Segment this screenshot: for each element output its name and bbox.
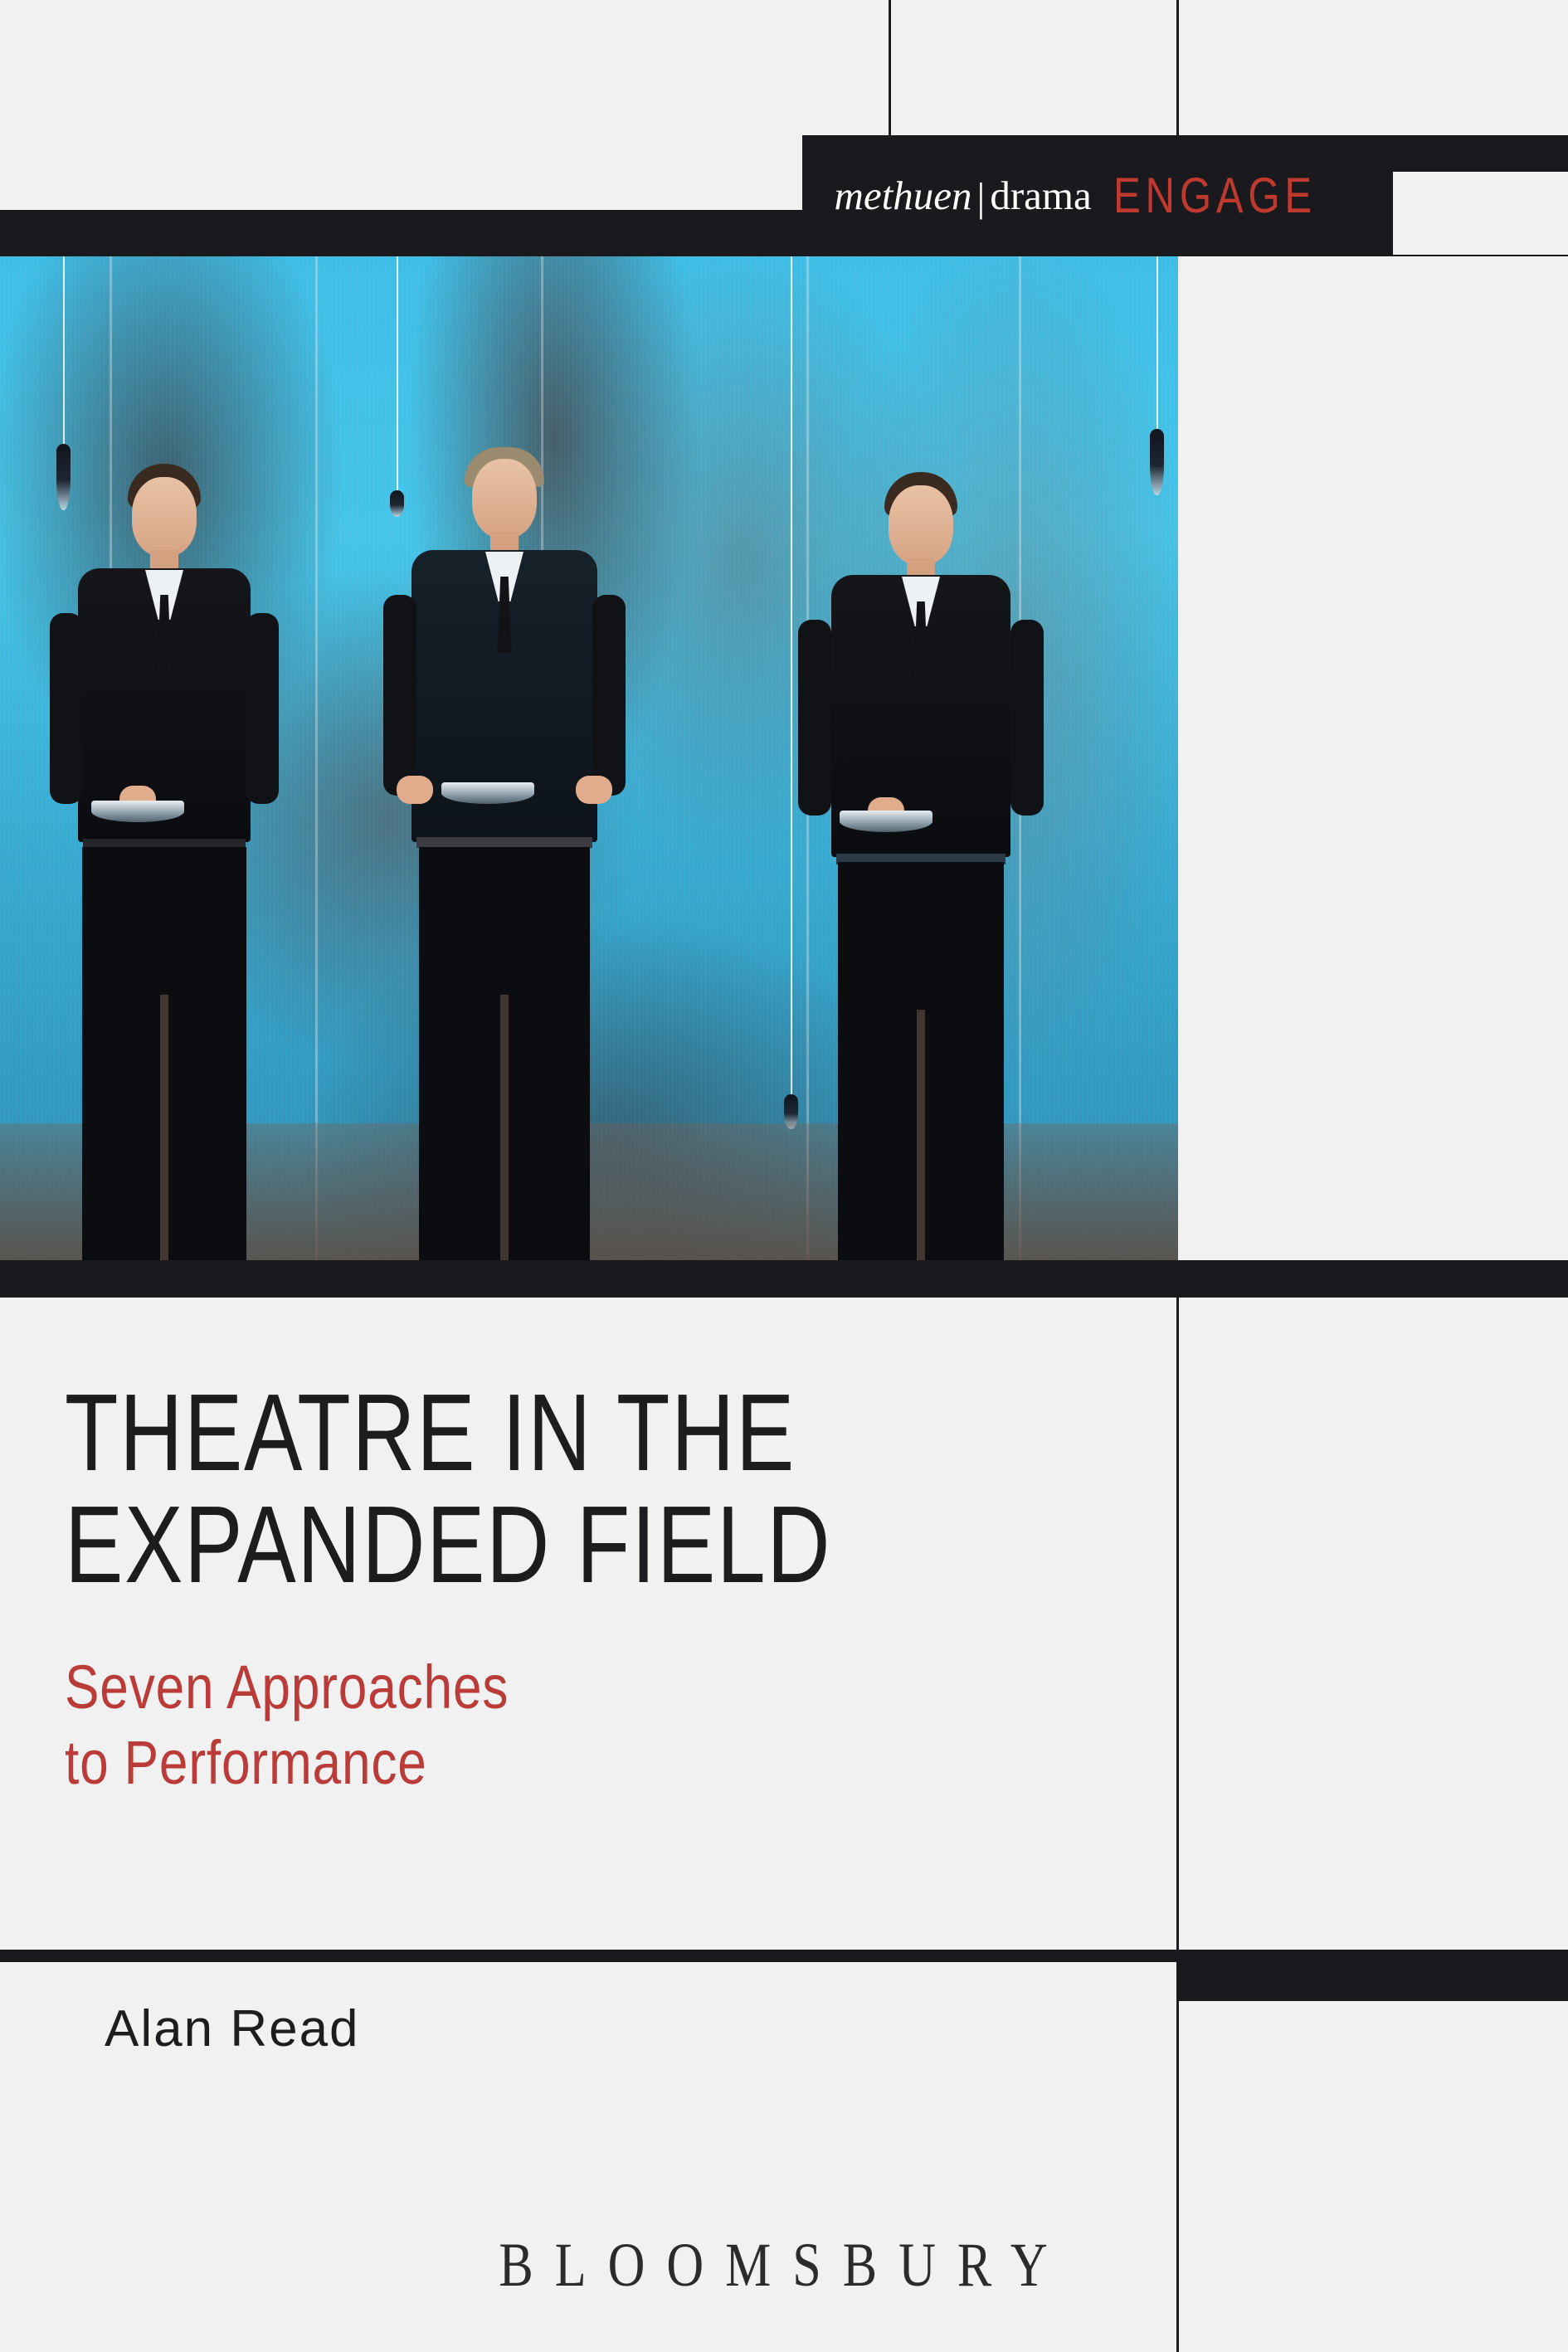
vertical-rule-top-right <box>1176 0 1179 137</box>
backdrop-fold-2 <box>315 256 318 1260</box>
cover-photograph <box>0 256 1178 1260</box>
header-notch-block <box>1393 172 1568 255</box>
performer-left-arm-right <box>246 613 279 804</box>
performer-right-arm-right <box>1010 620 1044 816</box>
band-above-author <box>0 1950 1178 1962</box>
performer-left-leg-gap <box>160 995 168 1260</box>
performer-right-tray <box>840 811 933 832</box>
imprint-divider: | <box>972 177 991 217</box>
book-cover: methuen|drama ENGAGE <box>0 0 1568 2352</box>
performer-centre-arm-right <box>592 595 626 796</box>
publisher-logo: BLOOMSBURY <box>0 2230 1568 2302</box>
hanging-wire-3 <box>1157 256 1158 429</box>
vertical-rule-top-left <box>889 0 891 137</box>
methuen-drama-wordmark: methuen|drama <box>835 175 1092 216</box>
performer-centre-tray <box>441 782 534 804</box>
title-line-2: EXPANDED FIELD <box>65 1489 894 1601</box>
author-right-block <box>1176 1950 1568 2001</box>
performer-left-head <box>132 477 197 557</box>
page-title: THEATRE IN THEEXPANDED FIELD <box>65 1377 894 1600</box>
drama-word: drama <box>990 173 1091 218</box>
subtitle-line-1: Seven Approaches <box>65 1653 509 1721</box>
band-below-photo <box>0 1260 1568 1298</box>
page-subtitle: Seven Approachesto Performance <box>65 1600 936 1800</box>
performer-left-arm-left <box>50 613 83 804</box>
hanging-weight-3 <box>1150 429 1164 495</box>
performer-left <box>40 464 289 1260</box>
author-name: Alan Read <box>105 1999 360 2058</box>
title-line-1: THEATRE IN THE <box>65 1371 796 1493</box>
title-block: THEATRE IN THEEXPANDED FIELD Seven Appro… <box>65 1377 1102 1800</box>
performer-right <box>788 472 1054 1260</box>
methuen-word: methuen <box>835 173 972 218</box>
performer-centre-hand-right <box>576 776 612 804</box>
performer-left-tray <box>91 801 184 822</box>
performer-centre-arm-left <box>383 595 416 796</box>
performer-centre-hand-left <box>397 776 433 804</box>
vertical-rule-title-area <box>1176 1298 1179 1950</box>
imprint-logo-bar: methuen|drama ENGAGE <box>802 135 1393 255</box>
performer-right-head <box>889 485 953 565</box>
performer-right-arm-left <box>798 620 831 816</box>
performer-right-leg-gap <box>917 1010 925 1260</box>
performer-centre-head <box>472 459 537 538</box>
performer-centre-leg-gap <box>500 995 509 1260</box>
hanging-wire-1 <box>63 256 65 444</box>
performer-centre <box>372 447 637 1260</box>
subtitle-line-2: to Performance <box>65 1726 936 1800</box>
series-engage-wordmark: ENGAGE <box>1113 167 1317 224</box>
